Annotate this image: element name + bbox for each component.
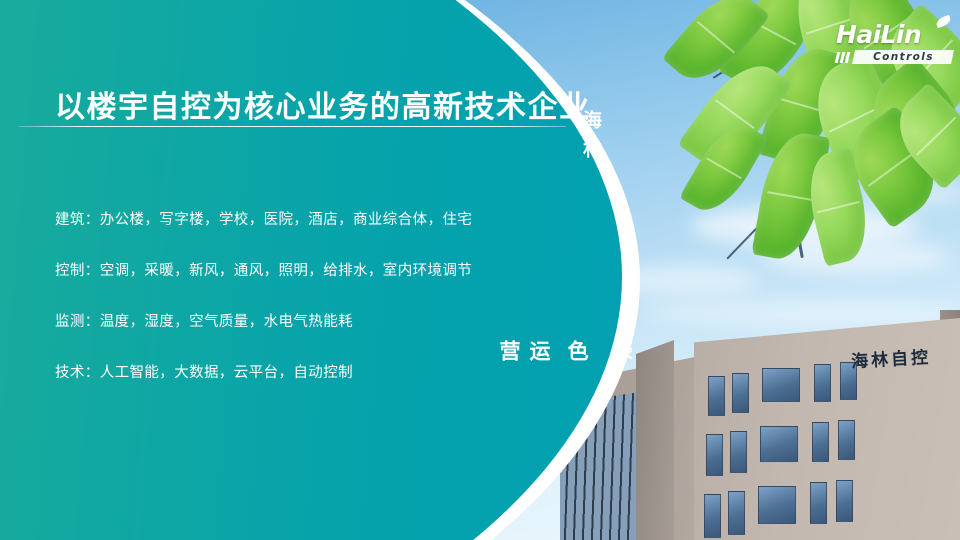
slide-canvas: 海林自控 以楼宇自控为核心业务的高新技术企业 建筑：办公楼，写字楼，学校，医院，…	[0, 0, 960, 540]
slogan-char: 色	[562, 340, 592, 372]
title-underline-rule	[18, 126, 566, 127]
vertical-brand-text: 海林	[578, 110, 605, 168]
list-item: 控制：空调，采暖，新风，通风，照明，给排水，室内环境调节	[55, 259, 525, 280]
page-title: 以楼宇自控为核心业务的高新技术企业	[55, 82, 591, 126]
logo-subtitle: Controls	[852, 50, 954, 64]
list-item: 监测：温度，湿度，空气质量，水电气热能耗	[55, 310, 525, 331]
slogan-char: 运	[524, 340, 554, 372]
logo-bars-icon	[836, 52, 849, 63]
bullet-list: 建筑：办公楼，写字楼，学校，医院，酒店，商业综合体，住宅 控制：空调，采暖，新风…	[55, 208, 525, 412]
hailin-logo: HaiLin Controls	[836, 22, 954, 64]
cloud	[640, 300, 960, 326]
slogan-char: 营	[494, 340, 524, 372]
logo-subtitle-row: Controls	[836, 50, 954, 64]
vertical-slogan-text: 绿 色 运 营	[500, 340, 636, 372]
list-item: 建筑：办公楼，写字楼，学校，医院，酒店，商业综合体，住宅	[55, 208, 525, 229]
slogan-char: 绿	[606, 340, 636, 372]
building-signage: 海林自控	[850, 343, 931, 372]
list-item: 技术：人工智能，大数据，云平台，自动控制	[55, 361, 525, 382]
building-stair-tower	[636, 340, 674, 540]
